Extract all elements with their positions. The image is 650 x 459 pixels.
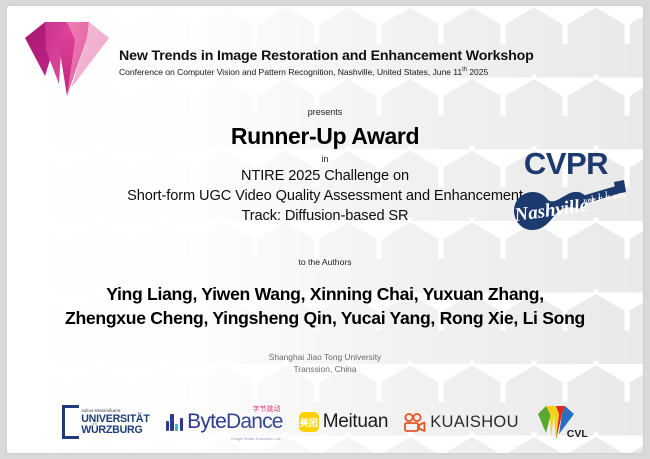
conference-subtitle-after: 2025 bbox=[467, 67, 488, 77]
certificate-card: New Trends in Image Restoration and Enha… bbox=[7, 6, 643, 453]
sponsor-meituan: 美团 Meituan bbox=[299, 411, 389, 433]
meituan-word: Meituan bbox=[323, 411, 389, 433]
author-line-2: Zhengxue Cheng, Yingsheng Qin, Yucai Yan… bbox=[7, 306, 643, 330]
conference-subtitle-before: Conference on Computer Vision and Patter… bbox=[119, 67, 462, 77]
bytedance-word-byte: Byte bbox=[187, 410, 226, 433]
sponsor-cvl: CVL bbox=[535, 403, 588, 441]
sponsor-bytedance: 字节跳动 ByteDance Google Media Evaluation L… bbox=[166, 411, 283, 433]
header-text-block: New Trends in Image Restoration and Enha… bbox=[119, 48, 559, 77]
cvpr-nashville-badge: CVPR JUNE 11-15, 2025 Nashville bbox=[504, 142, 629, 238]
presents-label: presents bbox=[7, 106, 643, 119]
wuerzburg-line-2: WÜRZBURG bbox=[81, 425, 149, 436]
sponsor-kuaishou: KUAISHOU bbox=[404, 413, 519, 432]
bytedance-lab-label: Google Media Evaluation Lab bbox=[231, 437, 281, 441]
affiliations-block: Shanghai Jiao Tong University Transsion,… bbox=[7, 352, 643, 375]
meituan-badge-icon: 美团 bbox=[299, 412, 319, 432]
ntire-diamond-logo bbox=[15, 10, 119, 106]
authors-block: Ying Liang, Yiwen Wang, Xinning Chai, Yu… bbox=[7, 282, 643, 330]
affiliation-1: Shanghai Jiao Tong University bbox=[7, 352, 643, 364]
conference-subtitle: Conference on Computer Vision and Patter… bbox=[119, 67, 559, 77]
author-line-1: Ying Liang, Yiwen Wang, Xinning Chai, Yu… bbox=[7, 282, 643, 306]
authors-label: to the Authors bbox=[7, 257, 643, 267]
sponsor-logos-row: Julius-Maximilians- UNIVERSITÄT WÜRZBURG… bbox=[7, 395, 643, 449]
cvl-word: CVL bbox=[567, 428, 588, 440]
affiliation-2: Transsion, China bbox=[7, 364, 643, 376]
wuerzburg-bracket-icon bbox=[62, 405, 79, 439]
kuaishou-word: KUAISHOU bbox=[430, 413, 519, 432]
kuaishou-camera-icon bbox=[404, 413, 426, 432]
cvpr-acronym-text: CVPR bbox=[524, 146, 608, 181]
bytedance-word-dance: Dance bbox=[226, 410, 283, 433]
bytedance-bars-icon bbox=[166, 414, 184, 431]
sponsor-wuerzburg: Julius-Maximilians- UNIVERSITÄT WÜRZBURG bbox=[62, 405, 149, 439]
bytedance-chinese-text: 字节跳动 bbox=[253, 403, 281, 413]
workshop-title: New Trends in Image Restoration and Enha… bbox=[119, 48, 559, 64]
certificate-header: New Trends in Image Restoration and Enha… bbox=[7, 6, 643, 102]
